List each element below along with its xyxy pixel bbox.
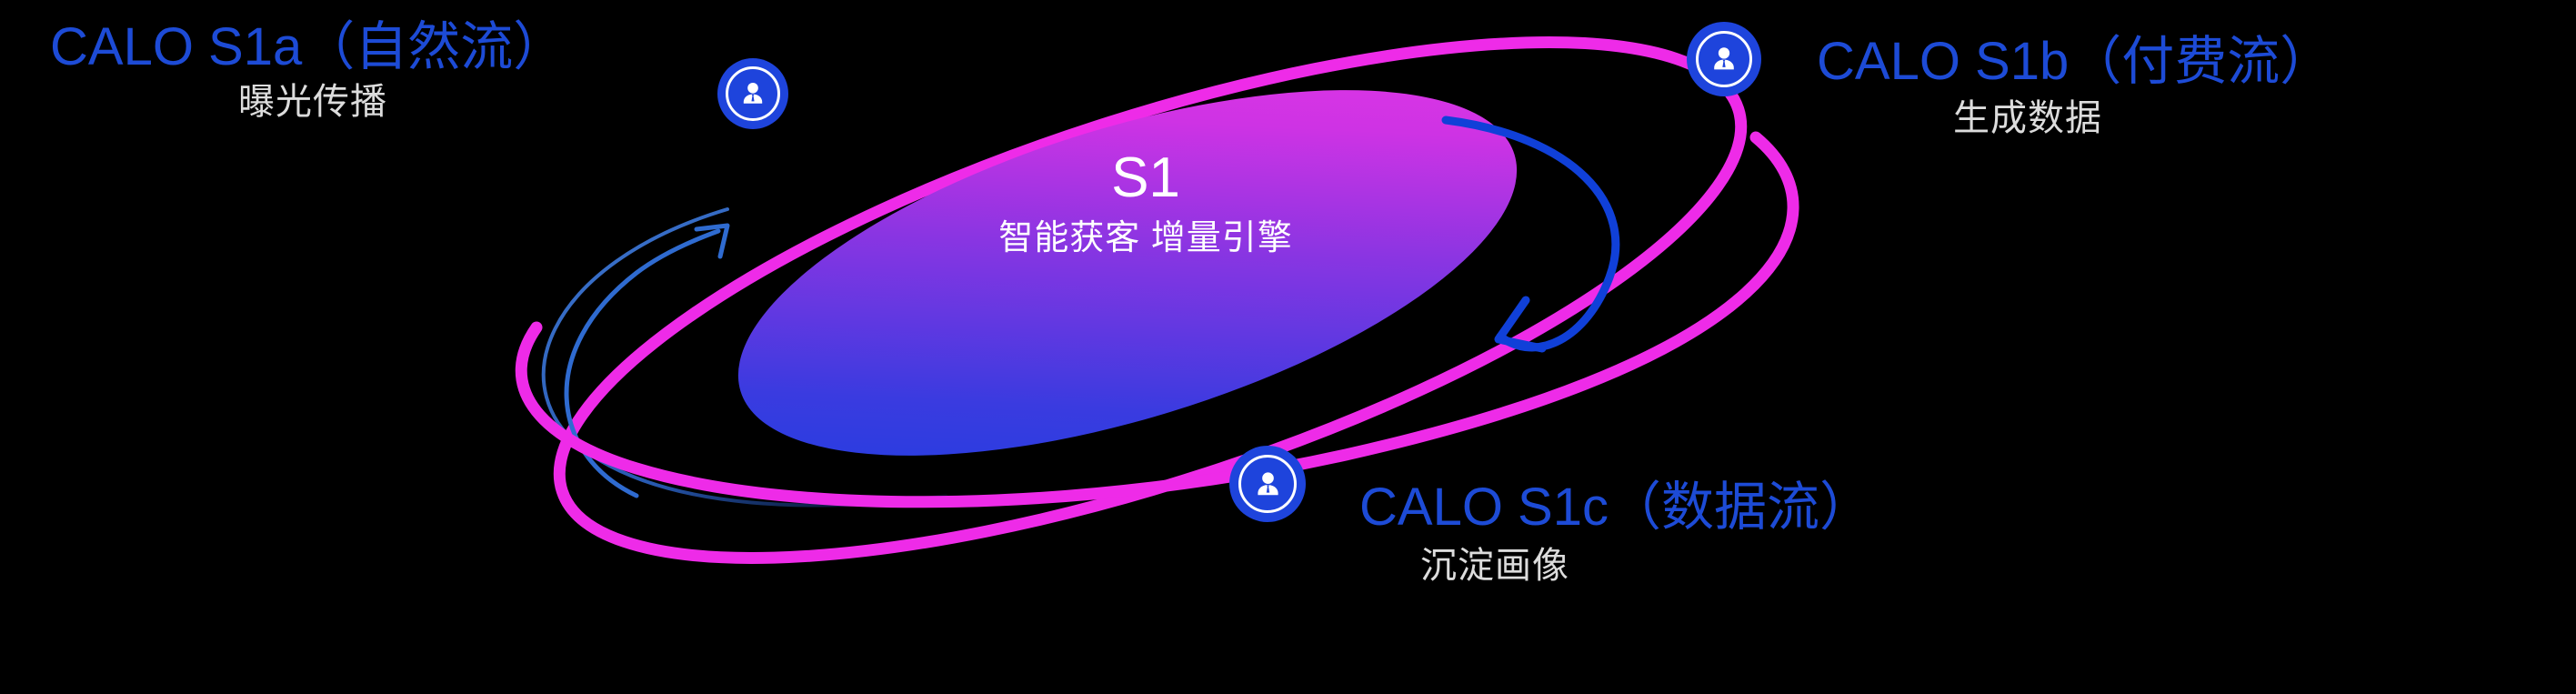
- person-icon: [1708, 43, 1740, 75]
- label-s1c-caption: 沉淀画像: [1420, 546, 1569, 586]
- core-ellipse: [698, 15, 1558, 530]
- node-s1a[interactable]: [717, 58, 788, 129]
- label-s1a-title: CALO S1a（自然流）: [50, 20, 566, 75]
- label-s1b-caption: 生成数据: [1953, 98, 2102, 138]
- label-s1a-caption: 曝光传播: [238, 82, 387, 122]
- node-s1c[interactable]: [1229, 446, 1306, 522]
- node-s1b[interactable]: [1687, 22, 1761, 96]
- person-icon: [737, 78, 768, 109]
- person-icon: [1251, 468, 1285, 501]
- diagram-canvas: S1 智能获客 增量引擎 CALO S1a（自然流） 曝光传播 CALO S1b: [0, 0, 2576, 694]
- label-s1b-title: CALO S1b（付费流）: [1817, 35, 2332, 90]
- label-s1c-title: CALO S1c（数据流）: [1359, 480, 1872, 536]
